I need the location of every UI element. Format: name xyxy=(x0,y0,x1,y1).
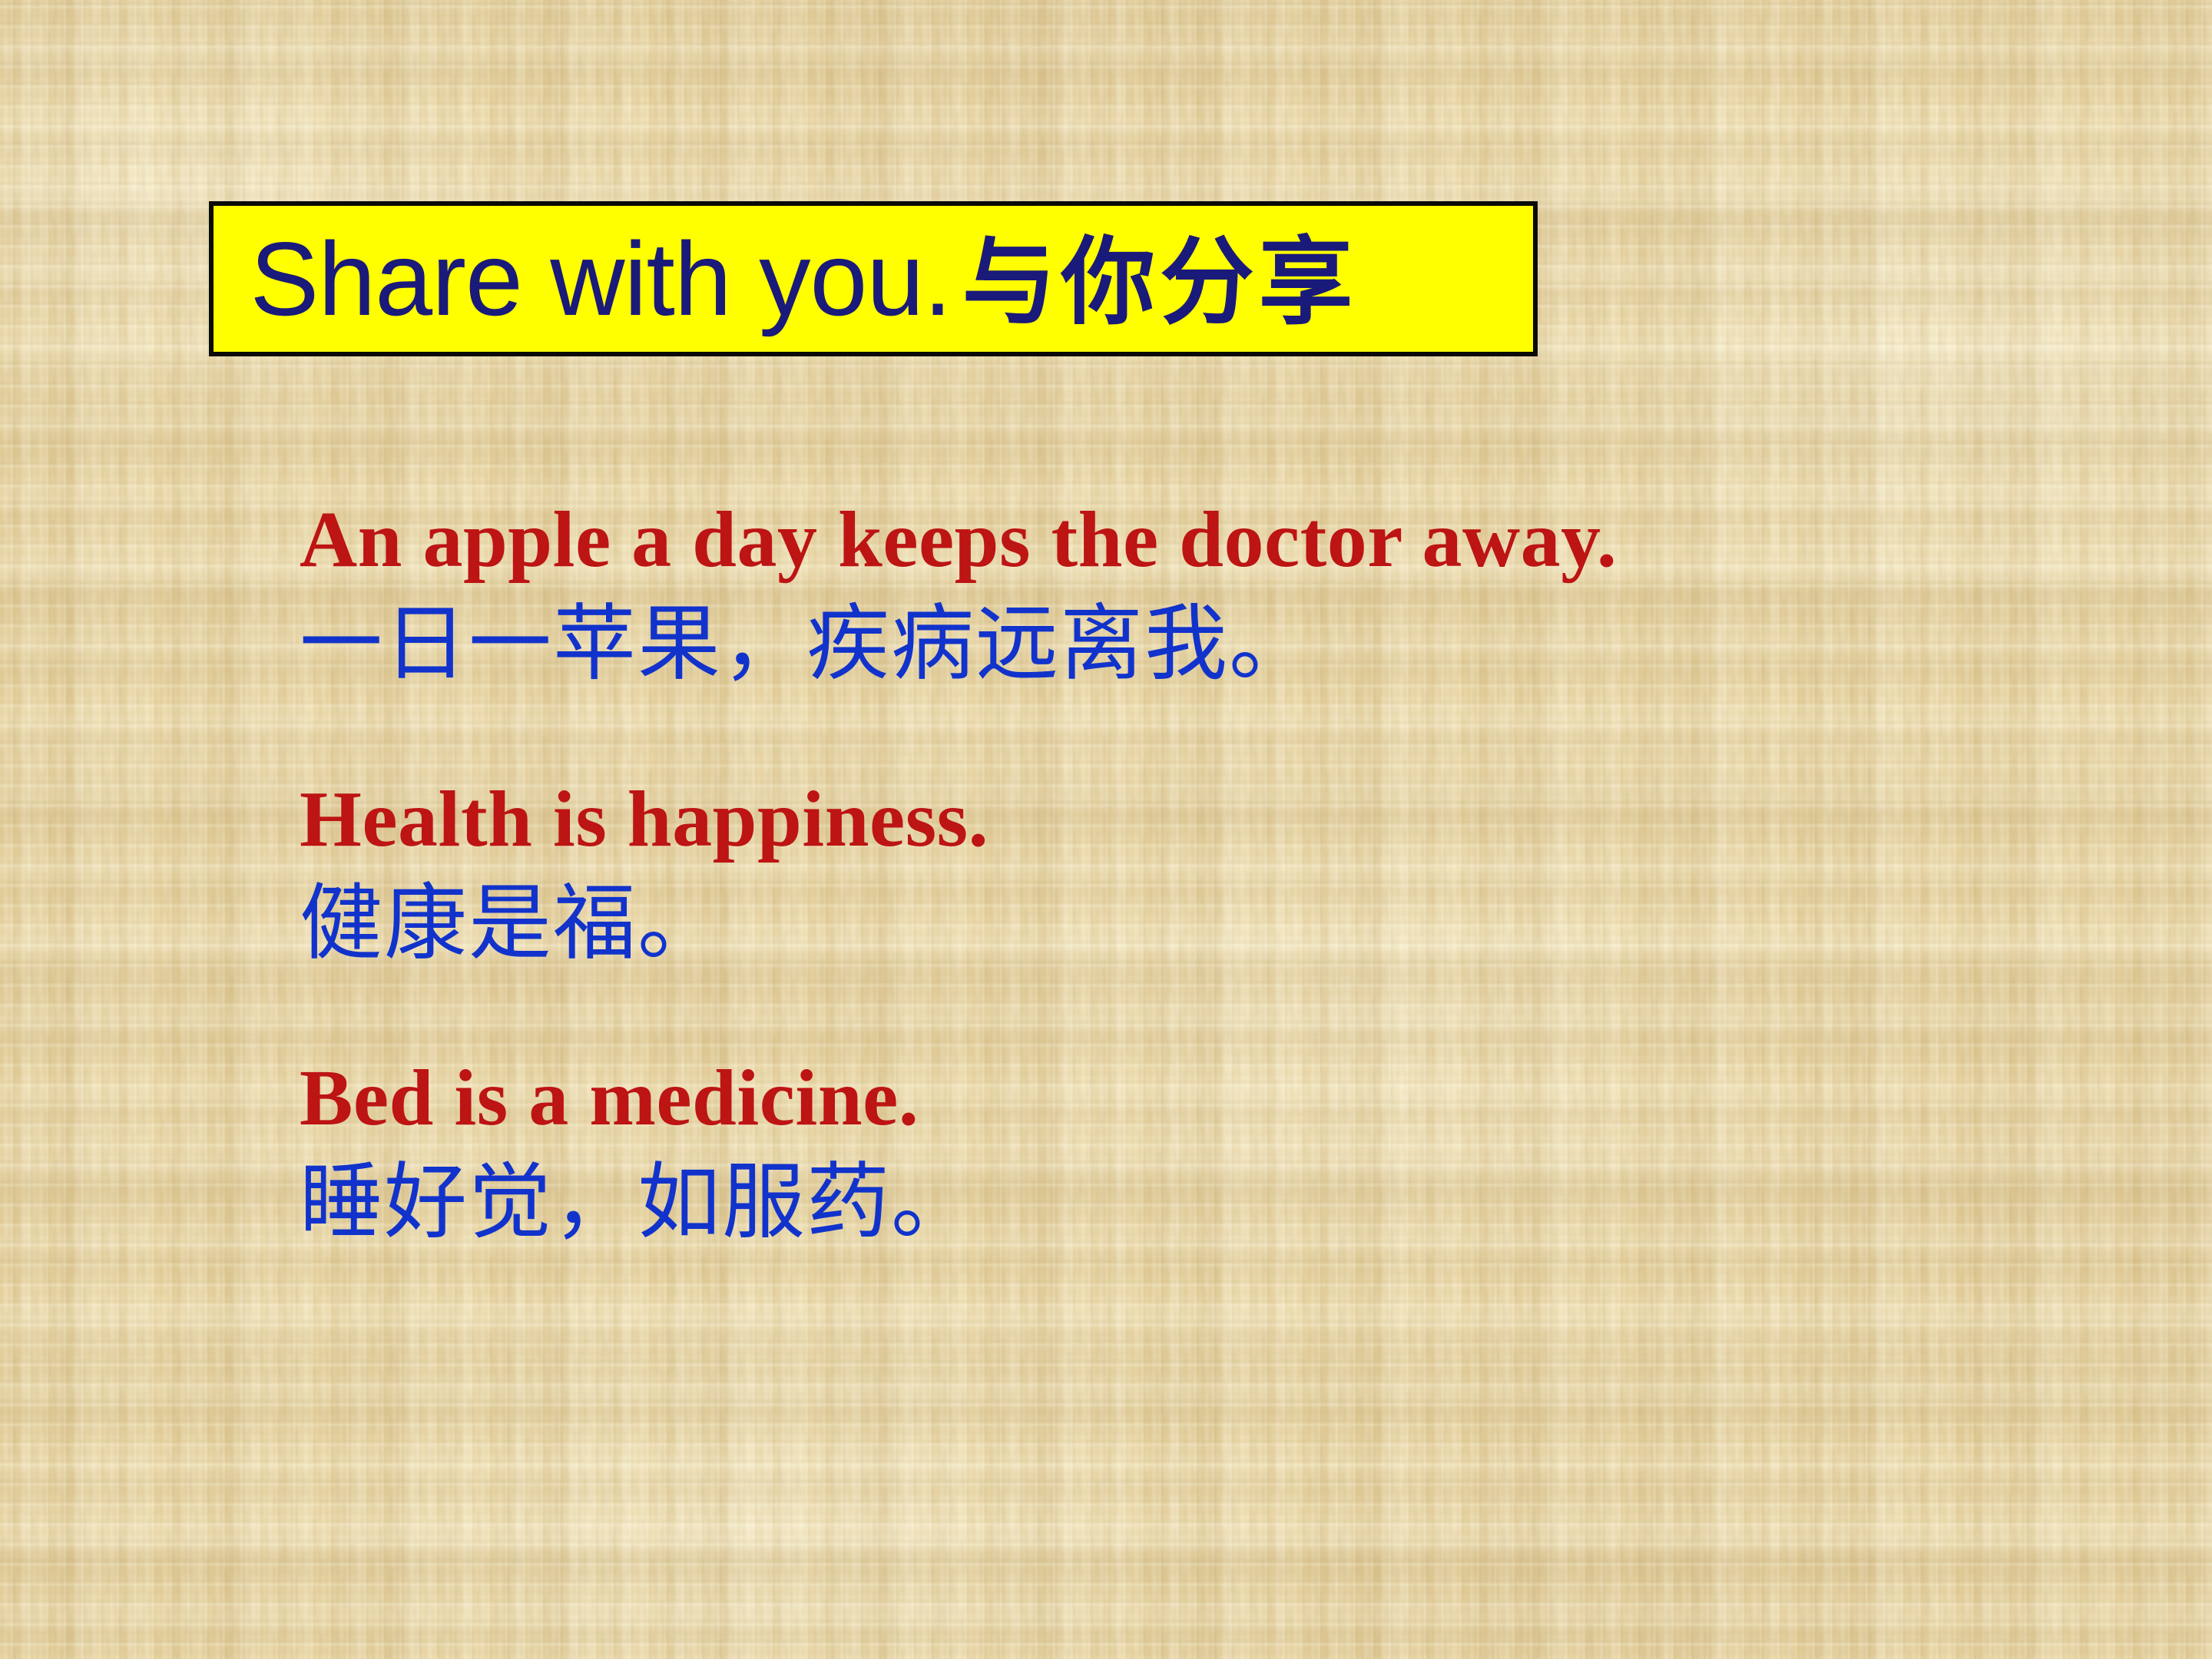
slide-title-box: Share with you.与你分享 xyxy=(209,201,1538,356)
proverb-english: An apple a day keeps the doctor away. xyxy=(300,498,2158,582)
slide-title-chinese: 与你分享 xyxy=(952,227,1358,338)
proverb-english: Bed is a medicine. xyxy=(300,1056,2158,1141)
proverb-item: Health is happiness. 健康是福。 xyxy=(300,777,2158,983)
proverb-list: An apple a day keeps the doctor away. 一日… xyxy=(300,498,2158,1262)
proverb-item: An apple a day keeps the doctor away. 一日… xyxy=(300,498,2158,704)
proverb-chinese: 健康是福。 xyxy=(300,865,2158,982)
proverb-chinese: 睡好觉，如服药。 xyxy=(300,1144,2158,1261)
slide-title: Share with you.与你分享 xyxy=(214,227,1357,331)
slide-title-english: Share with you. xyxy=(250,220,952,337)
proverb-english: Health is happiness. xyxy=(300,777,2158,862)
slide-canvas: Share with you.与你分享 An apple a day keeps… xyxy=(0,0,2212,1659)
proverb-chinese: 一日一苹果，疾病远离我。 xyxy=(300,585,2158,703)
proverb-item: Bed is a medicine. 睡好觉，如服药。 xyxy=(300,1056,2158,1262)
